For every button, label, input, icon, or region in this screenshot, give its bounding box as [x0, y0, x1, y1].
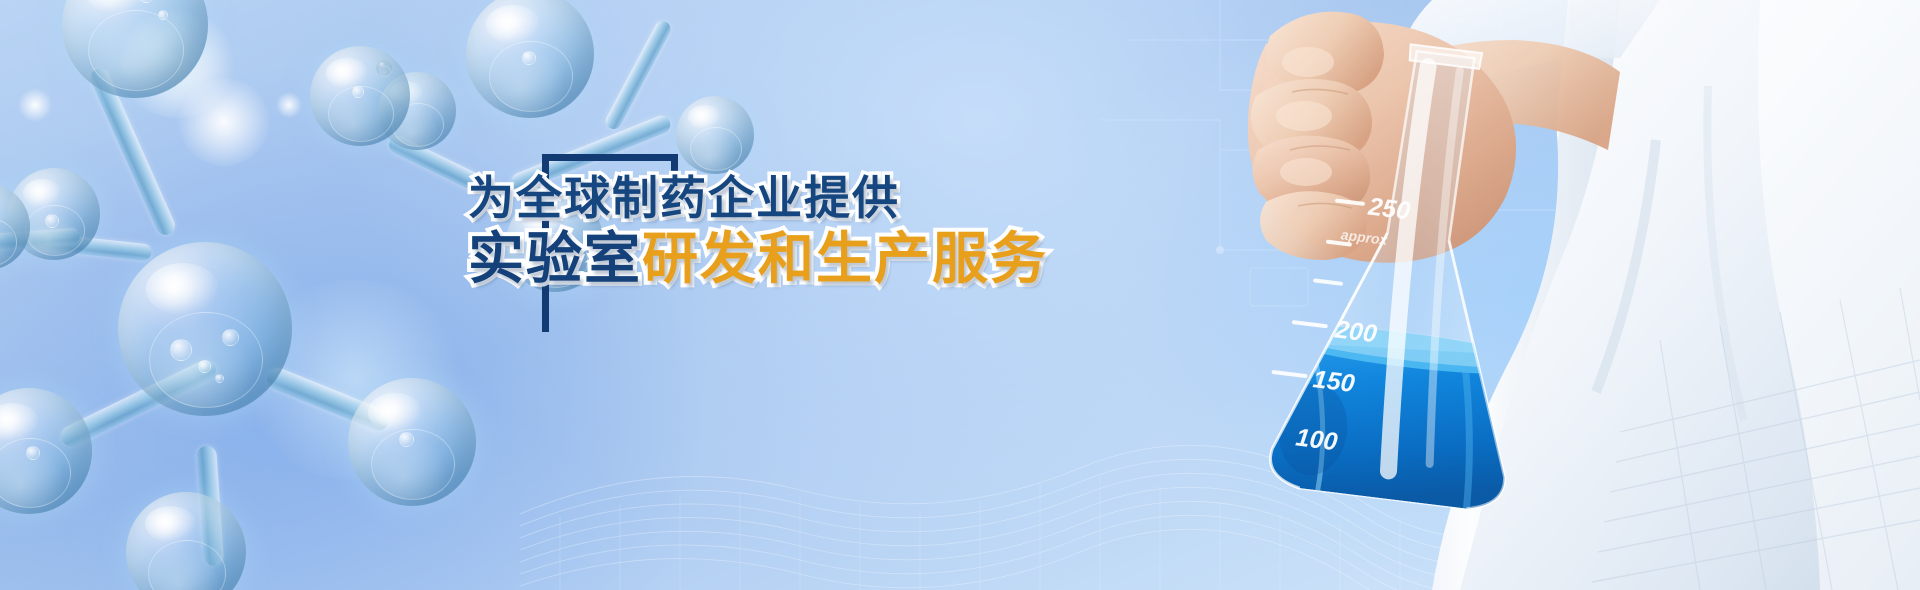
molecule-atom — [0, 388, 92, 514]
molecule-bond — [31, 232, 152, 261]
molecule-artwork — [0, 0, 1920, 590]
molecule-atom — [62, 0, 208, 98]
molecule-atom — [378, 72, 456, 150]
bloom-center-glow — [240, 280, 470, 480]
molecule-bond — [603, 18, 673, 131]
molecule-bond — [509, 113, 673, 193]
lab-coat-sleeve — [1394, 0, 1660, 196]
molecule-bond — [386, 133, 511, 206]
flask-mark-200: 200 — [1333, 315, 1379, 348]
molecule-bond — [57, 357, 219, 450]
headline-line-2-orange: 研发和生产服务 — [642, 227, 1048, 290]
forearm — [1360, 40, 1620, 170]
molecule-atom — [506, 194, 604, 292]
hero-banner: 250 approx 200 150 100 为全球制药企业提供 实验室研发和生… — [0, 0, 1920, 590]
decorative-bracket-frame — [542, 154, 678, 332]
frame-left-bar — [542, 154, 549, 332]
bloom-small-b — [276, 92, 302, 118]
headline-line-1: 为全球制药企业提供 — [468, 175, 1168, 221]
headline-line-2-blue: 实验室 — [468, 227, 642, 290]
molecule-atom — [348, 378, 476, 506]
molecule-atom — [676, 96, 754, 174]
circuit-tech-lines — [1100, 0, 1920, 420]
flask-mark-100: 100 — [1294, 423, 1339, 456]
flask-liquid — [1253, 324, 1540, 525]
bloom-medium — [178, 78, 270, 166]
flask-mark-approx: approx — [1340, 226, 1389, 248]
erlenmeyer-flask: 250 approx 200 150 100 — [1247, 31, 1581, 526]
white-lab-coat — [1390, 0, 1920, 590]
molecule-bond — [0, 228, 80, 252]
hand-holding-flask: 250 approx 200 150 100 — [1060, 0, 1920, 590]
frame-right-stub — [671, 154, 678, 202]
wireframe-wave-mesh — [520, 400, 1620, 590]
molecule-bond — [87, 66, 178, 238]
molecule-atom — [310, 46, 410, 146]
frame-top-bar — [542, 154, 678, 161]
headline-line-2: 实验室研发和生产服务 — [468, 231, 1168, 287]
molecule-atom — [118, 242, 292, 416]
flask-mark-150: 150 — [1311, 365, 1356, 398]
molecule-bond — [196, 445, 224, 566]
molecule-bond — [264, 365, 393, 434]
bloom-large — [118, 10, 236, 118]
molecule-atom — [126, 492, 246, 590]
bloom-small-a — [18, 88, 52, 122]
molecule-atom — [8, 168, 100, 260]
molecule-atom — [466, 0, 594, 118]
molecule-atom — [0, 184, 30, 270]
molecule-atom — [376, 60, 392, 76]
light-bloom-layer — [0, 0, 1920, 590]
headline-block: 为全球制药企业提供 实验室研发和生产服务 — [468, 175, 1168, 287]
hand — [1248, 12, 1516, 263]
flask-mark-250: 250 — [1366, 192, 1412, 225]
